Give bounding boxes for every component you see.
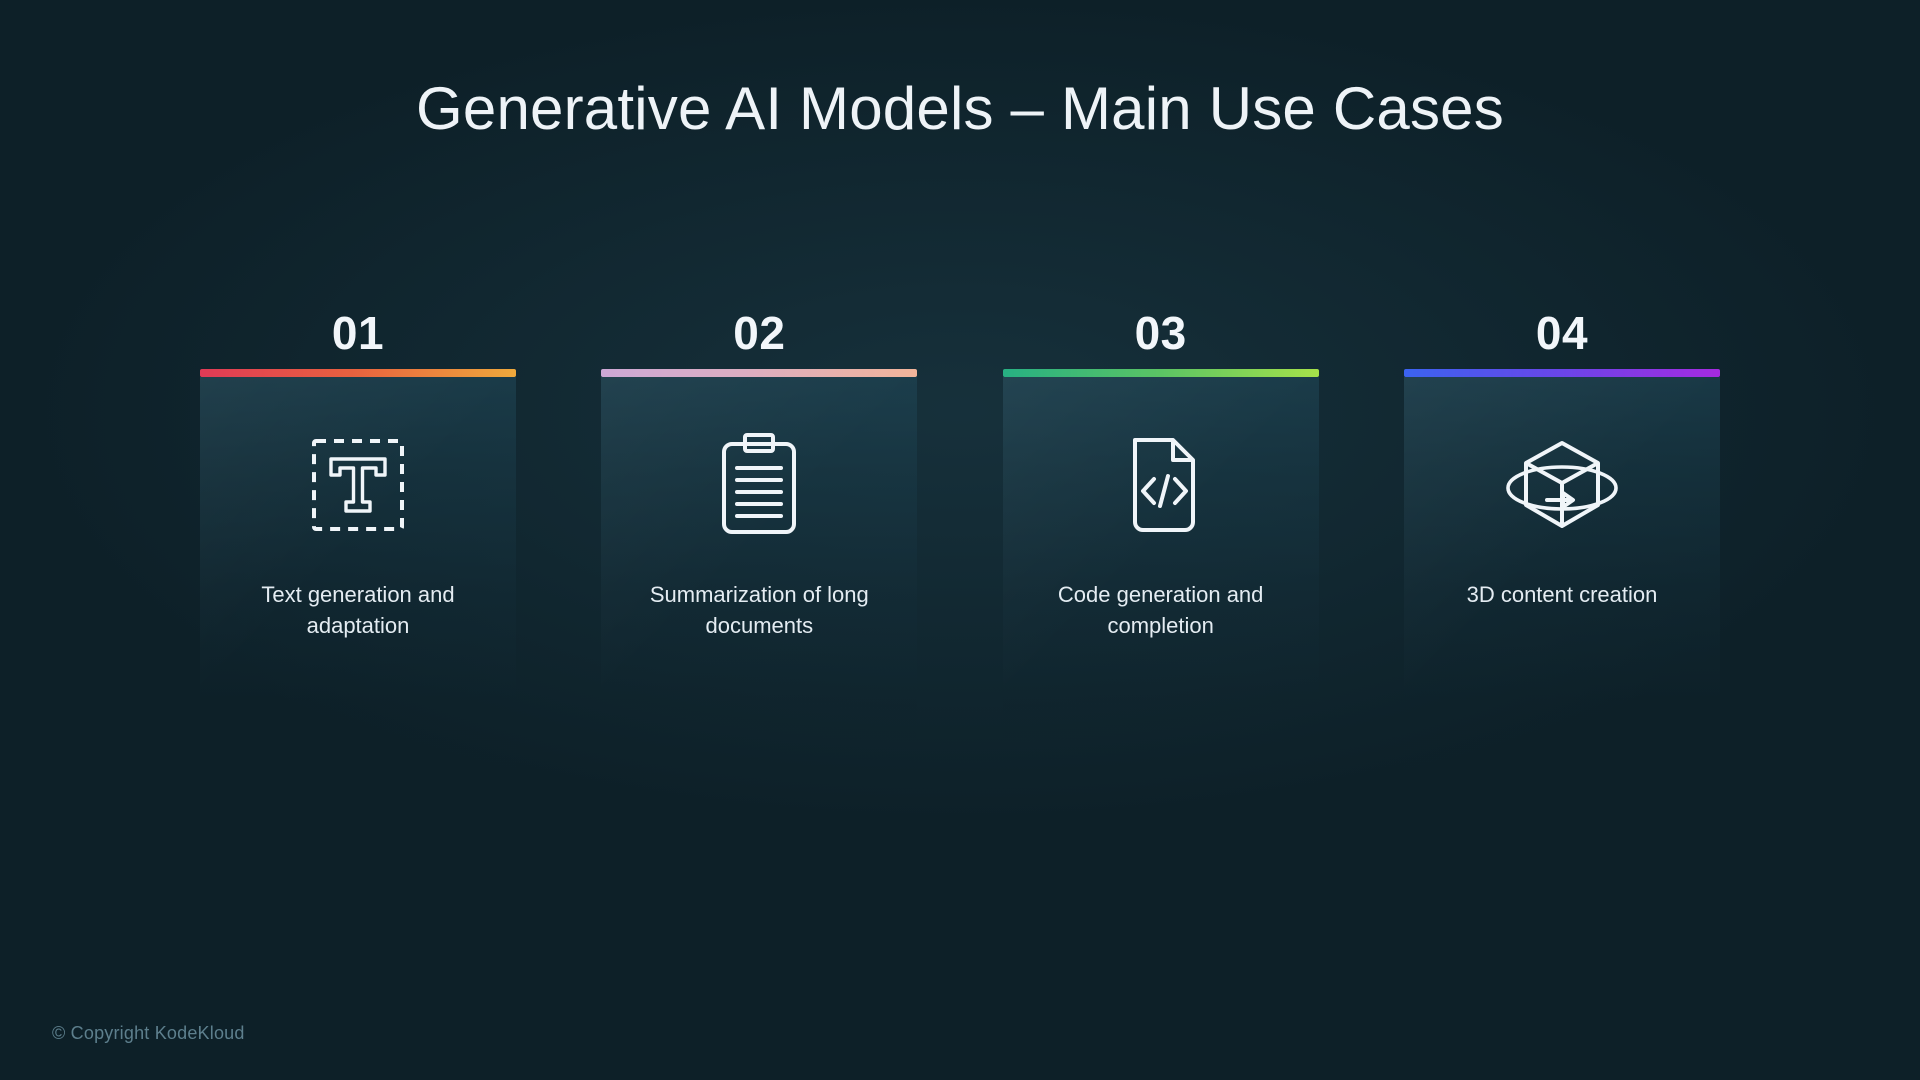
use-case-card-04[interactable]: 04 3D content creation <box>1404 310 1720 792</box>
card-number: 02 <box>733 310 785 356</box>
card-accent-bar <box>1404 369 1720 377</box>
use-case-card-03[interactable]: 03 Code generation and completion <box>1003 310 1319 792</box>
card-number: 01 <box>332 310 384 356</box>
card-body: Code generation and completion <box>1003 377 1319 792</box>
copyright-footer: © Copyright KodeKloud <box>52 1023 245 1044</box>
page-title: Generative AI Models – Main Use Cases <box>0 74 1920 143</box>
card-label: Code generation and completion <box>1026 579 1296 641</box>
use-case-card-02[interactable]: 02 Summarization of long documents <box>601 310 917 792</box>
text-box-icon <box>306 429 410 541</box>
card-label: 3D content creation <box>1427 579 1697 610</box>
code-document-icon <box>1109 429 1213 541</box>
card-accent-bar <box>200 369 516 377</box>
card-accent-bar <box>1003 369 1319 377</box>
slide-root: Generative AI Models – Main Use Cases 01… <box>0 0 1920 1080</box>
use-case-card-row: 01 Text generation and adaptation 02 <box>200 310 1720 792</box>
card-accent-bar <box>601 369 917 377</box>
clipboard-lines-icon <box>707 429 811 541</box>
cube-orbit-icon <box>1503 429 1621 541</box>
use-case-card-01[interactable]: 01 Text generation and adaptation <box>200 310 516 792</box>
card-body: Text generation and adaptation <box>200 377 516 792</box>
card-body: 3D content creation <box>1404 377 1720 792</box>
card-label: Summarization of long documents <box>624 579 894 641</box>
card-body: Summarization of long documents <box>601 377 917 792</box>
card-number: 03 <box>1135 310 1187 356</box>
card-label: Text generation and adaptation <box>223 579 493 641</box>
card-number: 04 <box>1536 310 1588 356</box>
